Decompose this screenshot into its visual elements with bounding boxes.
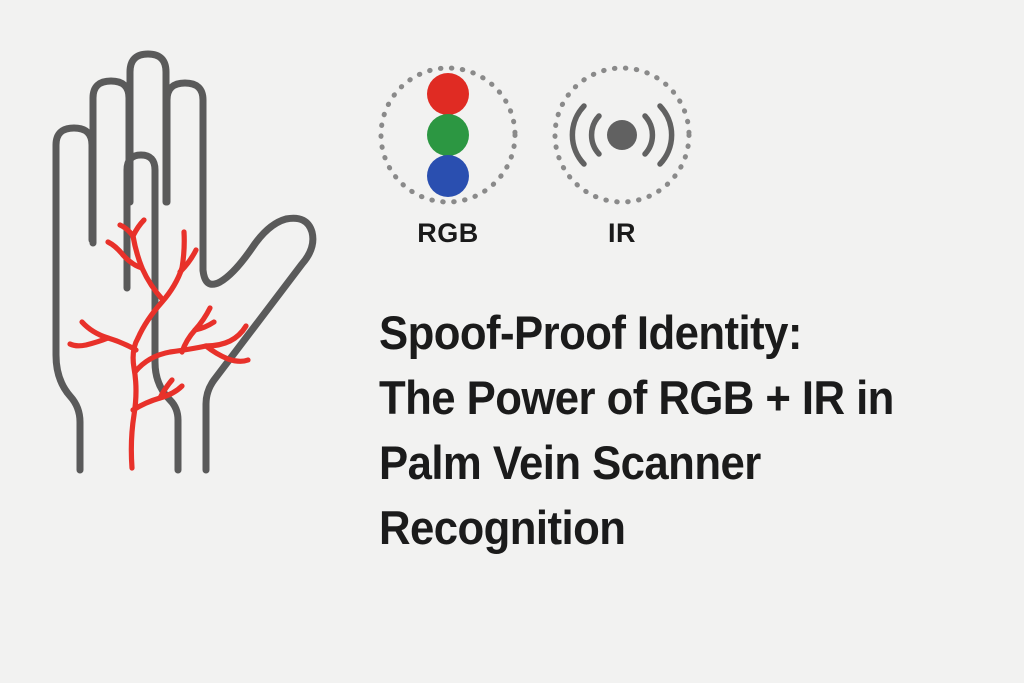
- sensor-badge-group: RGB IR: [375, 62, 695, 277]
- title-line-4: Recognition: [379, 495, 937, 560]
- rgb-badge-svg: [375, 62, 521, 208]
- sensor-label-ir: IR: [608, 220, 636, 247]
- vein-tree: [70, 220, 248, 468]
- page-title: Spoof-Proof Identity: The Power of RGB +…: [379, 300, 979, 560]
- title-line-2: The Power of RGB + IR in: [379, 365, 937, 430]
- sensor-badge-ir[interactable]: IR: [549, 62, 695, 277]
- hand-svg: [30, 50, 350, 490]
- title-line-3: Palm Vein Scanner: [379, 430, 937, 495]
- title-line-1: Spoof-Proof Identity:: [379, 300, 937, 365]
- red-dot-icon: [427, 73, 469, 115]
- blue-dot-icon: [427, 155, 469, 197]
- ir-center-dot-icon: [607, 120, 637, 150]
- poster-canvas: RGB IR Spoof-Proof Identity:: [0, 0, 1024, 683]
- sensor-label-rgb: RGB: [417, 220, 479, 247]
- sensor-badge-rgb[interactable]: RGB: [375, 62, 521, 277]
- green-dot-icon: [427, 114, 469, 156]
- ir-dotted-ring: [549, 62, 695, 208]
- ir-badge-svg: [549, 62, 695, 208]
- rgb-dotted-ring: [375, 62, 521, 208]
- palm-hand-illustration: [30, 50, 350, 490]
